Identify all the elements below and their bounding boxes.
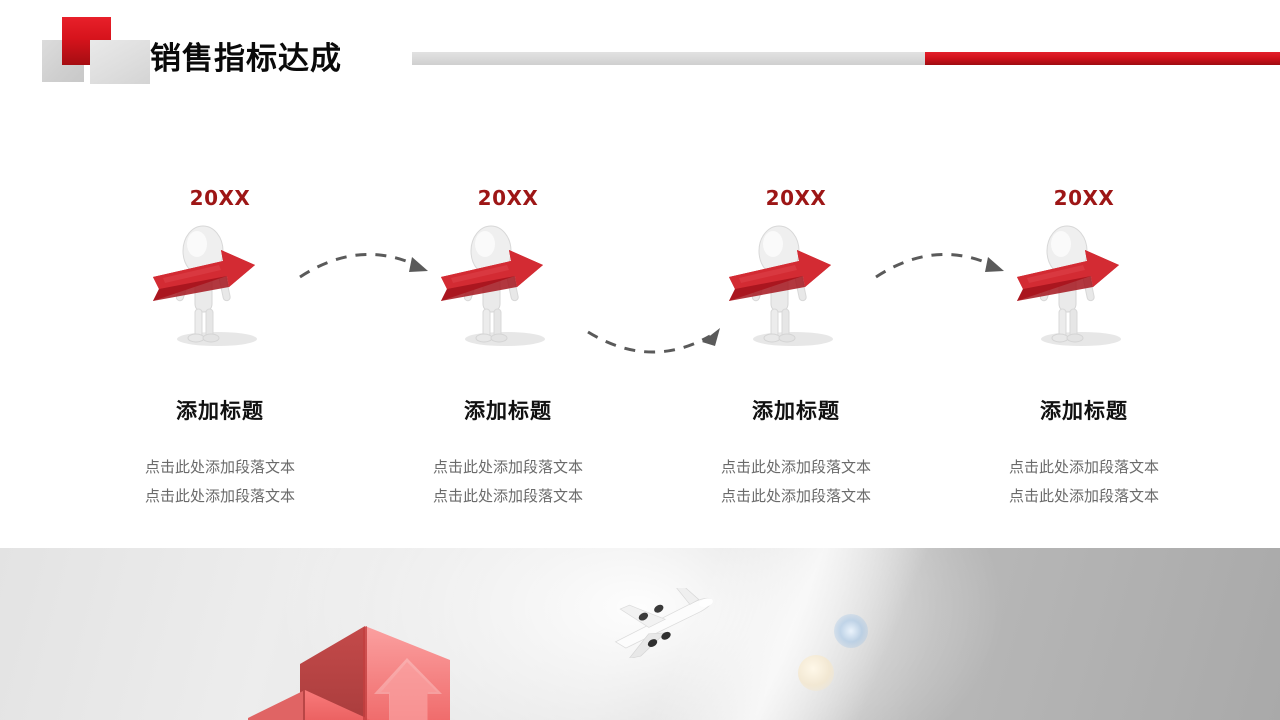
- column-body-line-1: 点击此处添加段落文本: [364, 453, 652, 482]
- header-divider-red-segment: [925, 52, 1280, 65]
- overlapping-squares-logo-icon: [40, 12, 150, 90]
- column-body-line-2: 点击此处添加段落文本: [364, 482, 652, 511]
- column-year-label: 20XX: [364, 185, 652, 211]
- person-holding-red-arrow-icon: [652, 217, 940, 367]
- column-heading: 添加标题: [364, 395, 652, 425]
- column-body-text: 点击此处添加段落文本 点击此处添加段落文本: [76, 453, 364, 511]
- airplane-icon: [590, 588, 730, 658]
- column-heading: 添加标题: [652, 395, 940, 425]
- column-body-line-1: 点击此处添加段落文本: [940, 453, 1228, 482]
- column-body-line-1: 点击此处添加段落文本: [76, 453, 364, 482]
- person-holding-red-arrow-icon: [76, 217, 364, 367]
- timeline-column-2[interactable]: 20XX 添加标: [364, 185, 652, 511]
- column-year-label: 20XX: [652, 185, 940, 211]
- header-divider-gray-segment: [412, 52, 925, 65]
- timeline-column-3[interactable]: 20XX 添加标: [652, 185, 940, 511]
- column-body-line-2: 点击此处添加段落文本: [652, 482, 940, 511]
- column-heading: 添加标题: [76, 395, 364, 425]
- slide: 销售指标达成 20XX: [0, 0, 1280, 720]
- lens-flare-cream-icon: [798, 655, 834, 691]
- column-year-label: 20XX: [76, 185, 364, 211]
- timeline-column-4[interactable]: 20XX 添加标: [940, 185, 1228, 511]
- timeline-column-1[interactable]: 20XX 添加标: [76, 185, 364, 511]
- red-cubes-with-up-arrow-icon: [200, 618, 520, 720]
- column-body-line-2: 点击此处添加段落文本: [76, 482, 364, 511]
- logo-square-gray-right: [90, 40, 150, 84]
- column-body-text: 点击此处添加段落文本 点击此处添加段落文本: [364, 453, 652, 511]
- page-title: 销售指标达成: [150, 33, 342, 78]
- column-body-line-2: 点击此处添加段落文本: [940, 482, 1228, 511]
- timeline-section: 20XX 添加标: [0, 185, 1280, 525]
- person-holding-red-arrow-icon: [940, 217, 1228, 367]
- column-body-text: 点击此处添加段落文本 点击此处添加段落文本: [940, 453, 1228, 511]
- slide-header: 销售指标达成: [0, 0, 1280, 105]
- column-year-label: 20XX: [940, 185, 1228, 211]
- column-heading: 添加标题: [940, 395, 1228, 425]
- lens-flare-blue-icon: [834, 614, 868, 648]
- header-divider-bar: [412, 52, 1280, 65]
- person-holding-red-arrow-icon: [364, 217, 652, 367]
- column-body-text: 点击此处添加段落文本 点击此处添加段落文本: [652, 453, 940, 511]
- column-body-line-1: 点击此处添加段落文本: [652, 453, 940, 482]
